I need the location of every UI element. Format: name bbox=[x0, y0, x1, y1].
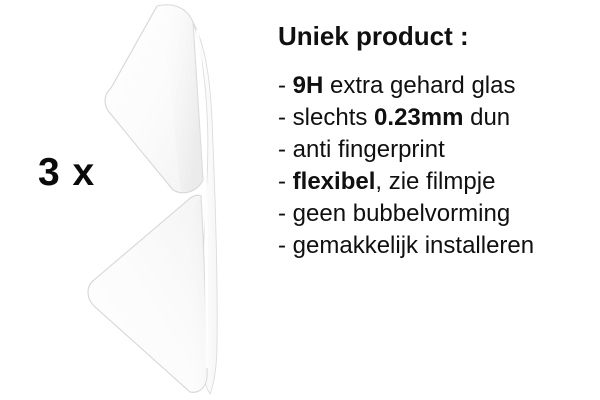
feature-list: - 9H extra gehard glas- slechts 0.23mm d… bbox=[278, 70, 598, 262]
bullet-marker: - bbox=[278, 136, 286, 163]
list-item: - geen bubbelvorming bbox=[278, 198, 598, 230]
quantity-label: 3 x bbox=[38, 153, 95, 192]
product-feature-banner: 3 x Uniek product : - 9H extra gehard gl… bbox=[0, 0, 600, 400]
feature-text: dun bbox=[463, 104, 510, 131]
feature-text: extra gehard glas bbox=[323, 72, 515, 99]
bullet-marker: - bbox=[278, 232, 286, 259]
flexible-tempered-glass-sheet-icon bbox=[60, 0, 260, 400]
feature-emphasis: flexibel bbox=[293, 168, 376, 195]
bullet-marker: - bbox=[278, 168, 286, 195]
list-item: - slechts 0.23mm dun bbox=[278, 102, 598, 134]
bullet-marker: - bbox=[278, 200, 286, 227]
product-info-panel: Uniek product : - 9H extra gehard glas- … bbox=[278, 22, 598, 262]
feature-text: gemakkelijk installeren bbox=[293, 232, 534, 259]
page-title: Uniek product : bbox=[278, 22, 598, 52]
bullet-marker: - bbox=[278, 72, 286, 99]
feature-text: geen bubbelvorming bbox=[293, 200, 511, 227]
list-item: - 9H extra gehard glas bbox=[278, 70, 598, 102]
feature-text: anti fingerprint bbox=[293, 136, 445, 163]
feature-emphasis: 9H bbox=[293, 72, 324, 99]
list-item: - gemakkelijk installeren bbox=[278, 230, 598, 262]
feature-text: , zie filmpje bbox=[375, 168, 495, 195]
bullet-marker: - bbox=[278, 104, 286, 131]
list-item: - anti fingerprint bbox=[278, 134, 598, 166]
feature-emphasis: 0.23mm bbox=[374, 104, 463, 131]
feature-text: slechts bbox=[293, 104, 374, 131]
list-item: - flexibel, zie filmpje bbox=[278, 166, 598, 198]
